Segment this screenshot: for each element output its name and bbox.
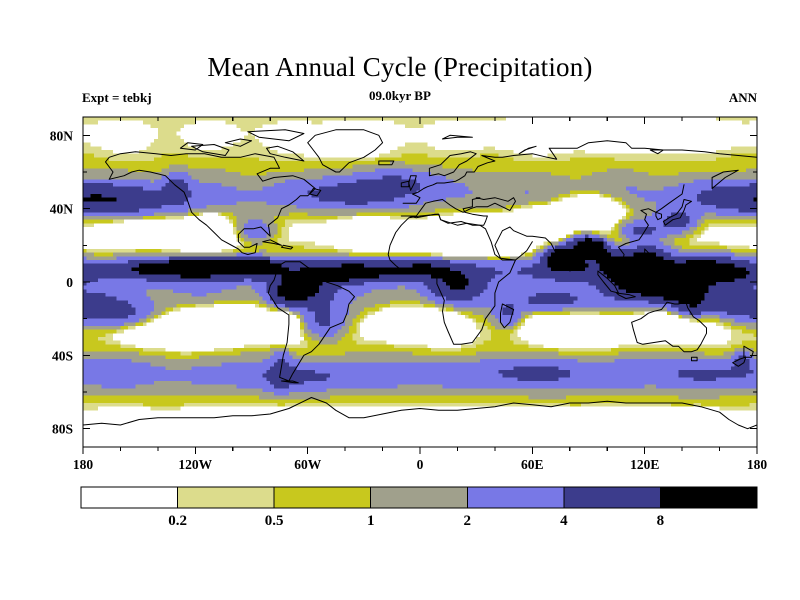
colorbar-band (564, 487, 661, 508)
colorbar-band (467, 487, 564, 508)
colorbar-band (81, 487, 178, 508)
colorbar-tick-label: 4 (560, 513, 568, 529)
colorbar-tick-label: 2 (464, 513, 472, 529)
colorbar-band (178, 487, 275, 508)
colorbar-tick-label: 0.5 (265, 513, 284, 529)
colorbar-tick-label: 8 (657, 513, 665, 529)
colorbar-band (274, 487, 371, 508)
colorbar-band (371, 487, 468, 508)
colorbar-band (660, 487, 757, 508)
colorbar-tick-label: 1 (367, 513, 375, 529)
figure-canvas: Mean Annual Cycle (Precipitation) 09.0ky… (0, 0, 800, 600)
colorbar-group: 0.20.51248 (81, 487, 758, 529)
colorbar: 0.20.51248 (0, 0, 800, 600)
colorbar-tick-label: 0.2 (168, 513, 187, 529)
